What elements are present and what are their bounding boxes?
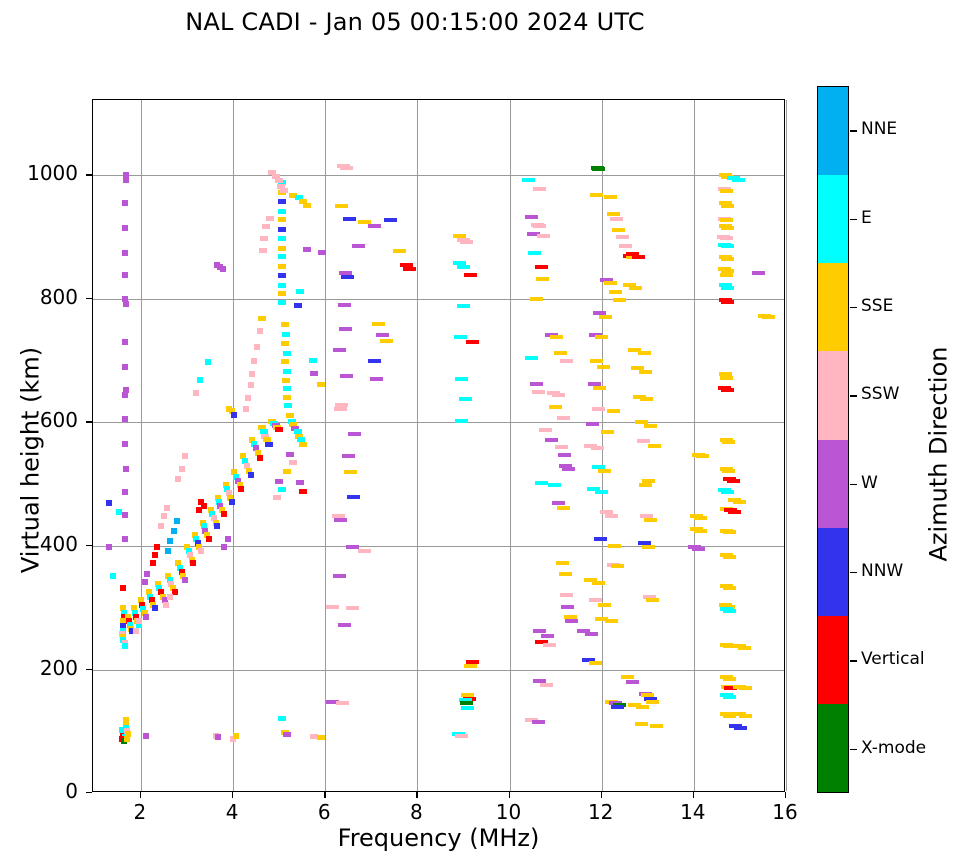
echo-mark	[692, 547, 705, 551]
echo-mark	[561, 605, 574, 609]
echo-mark	[455, 734, 468, 738]
echo-mark	[739, 686, 752, 690]
echo-mark	[122, 339, 128, 345]
echo-mark	[696, 454, 709, 458]
echo-mark	[562, 467, 575, 471]
echo-mark	[560, 359, 573, 363]
colorbar-title: Azimuth Direction	[925, 101, 953, 808]
echo-mark	[739, 714, 752, 718]
echo-mark	[303, 247, 311, 252]
echo-mark	[172, 589, 178, 595]
echo-mark	[158, 523, 164, 529]
echo-mark	[342, 454, 355, 458]
x-tick	[601, 792, 602, 798]
echo-mark	[466, 340, 479, 344]
echo-mark	[368, 224, 381, 228]
echo-mark	[720, 236, 733, 240]
echo-mark	[619, 244, 632, 248]
echo-mark	[455, 377, 468, 381]
echo-mark	[557, 416, 570, 420]
echo-mark	[610, 217, 623, 221]
echo-mark	[752, 271, 765, 275]
echo-mark	[722, 440, 735, 444]
echo-mark	[214, 523, 220, 529]
echo-mark	[598, 603, 611, 607]
echo-mark	[646, 598, 659, 602]
y-tick	[86, 421, 92, 422]
echo-mark	[384, 218, 397, 222]
echo-mark	[457, 265, 470, 269]
echo-mark	[632, 255, 645, 259]
echo-mark	[616, 235, 629, 239]
echo-mark	[368, 359, 381, 363]
x-tick-label: 12	[571, 800, 631, 824]
echo-mark	[281, 322, 289, 327]
echo-mark	[556, 561, 569, 565]
echo-mark	[522, 178, 535, 182]
echo-mark	[609, 290, 622, 294]
colorbar-segment-e	[818, 175, 848, 263]
echo-mark	[163, 602, 169, 608]
echo-mark	[535, 265, 548, 269]
echo-mark	[197, 377, 203, 383]
echo-mark	[120, 585, 126, 591]
echo-mark	[174, 518, 180, 524]
x-tick-label: 14	[663, 800, 723, 824]
echo-mark	[193, 390, 199, 396]
echo-mark	[537, 234, 550, 238]
echo-mark	[243, 406, 249, 412]
echo-mark	[221, 544, 227, 550]
y-tick	[86, 792, 92, 793]
echo-mark	[525, 215, 538, 219]
colorbar-label-sse: SSE	[861, 296, 893, 316]
echo-mark	[549, 405, 562, 409]
echo-mark	[532, 390, 545, 394]
echo-mark	[530, 297, 543, 301]
echo-mark	[229, 499, 235, 505]
echo-mark	[721, 300, 734, 304]
echo-mark	[338, 623, 351, 627]
colorbar-segment-sse	[818, 263, 848, 351]
echo-mark	[143, 614, 149, 620]
echo-mark	[607, 212, 620, 216]
colorbar-tick	[850, 660, 857, 661]
echo-mark	[629, 286, 642, 290]
echo-mark	[282, 378, 290, 383]
echo-mark	[265, 442, 273, 447]
y-axis-title: Virtual height (km)	[17, 114, 45, 807]
echo-mark	[593, 311, 606, 315]
echo-mark	[278, 254, 286, 259]
echo-mark	[278, 273, 286, 278]
echo-mark	[278, 264, 286, 269]
colorbar-label-w: W	[861, 473, 878, 493]
echo-mark	[543, 643, 556, 647]
echo-mark	[694, 516, 707, 520]
echo-mark	[694, 529, 707, 533]
y-tick	[86, 174, 92, 175]
echo-mark	[339, 271, 352, 275]
colorbar-label-ssw: SSW	[861, 384, 899, 404]
echo-mark	[637, 439, 650, 443]
echo-mark	[727, 479, 740, 483]
echo-mark	[334, 518, 347, 522]
echo-mark	[334, 407, 347, 411]
echo-mark	[262, 224, 270, 229]
echo-mark	[532, 720, 545, 724]
echo-mark	[278, 199, 286, 204]
echo-mark	[317, 382, 325, 387]
echo-mark	[613, 298, 626, 302]
echo-mark	[590, 193, 603, 197]
echo-mark	[554, 351, 567, 355]
echo-mark	[525, 356, 538, 360]
colorbar-segment-x-mode	[818, 704, 848, 792]
echo-mark	[464, 664, 477, 668]
echo-mark	[152, 552, 158, 558]
echo-mark	[644, 424, 657, 428]
echo-mark	[380, 339, 393, 343]
echo-mark	[557, 506, 570, 510]
echo-mark	[249, 371, 255, 377]
echo-mark	[165, 548, 171, 554]
echo-mark	[231, 412, 237, 418]
echo-mark	[283, 369, 291, 374]
echo-mark	[144, 571, 150, 577]
echo-mark	[592, 407, 605, 411]
echo-mark	[611, 564, 624, 568]
echo-mark	[123, 177, 129, 183]
y-tick	[86, 545, 92, 546]
echo-mark	[309, 358, 317, 363]
echo-mark	[540, 683, 553, 687]
echo-mark	[639, 483, 652, 487]
echo-mark	[621, 675, 634, 679]
echo-mark	[296, 480, 304, 485]
echo-mark	[720, 273, 733, 277]
echo-mark	[721, 257, 734, 261]
echo-mark	[260, 236, 268, 241]
echo-mark	[248, 472, 254, 478]
echo-mark	[347, 495, 360, 499]
echo-mark	[372, 322, 385, 326]
echo-mark	[585, 632, 598, 636]
colorbar	[817, 86, 849, 793]
echo-mark	[592, 581, 605, 585]
echo-mark	[648, 444, 661, 448]
echo-mark	[594, 537, 607, 541]
echo-mark	[611, 705, 624, 709]
x-tick	[140, 792, 141, 798]
echo-mark	[278, 487, 286, 492]
echo-mark	[122, 392, 128, 398]
page-title: NAL CADI - Jan 05 00:15:00 2024 UTC	[0, 8, 830, 36]
colorbar-label-nne: NNE	[861, 119, 897, 139]
echo-mark	[721, 388, 734, 392]
echo-mark	[723, 530, 736, 534]
echo-mark	[720, 189, 733, 193]
echo-mark	[283, 732, 291, 737]
echo-mark	[590, 359, 603, 363]
echo-mark	[122, 225, 128, 231]
x-tick	[416, 792, 417, 798]
echo-mark	[164, 505, 170, 511]
echo-mark	[122, 536, 128, 542]
colorbar-tick	[850, 749, 857, 750]
echo-mark	[733, 500, 746, 504]
echo-mark	[626, 680, 639, 684]
echo-mark	[457, 304, 470, 308]
x-tick	[785, 792, 786, 798]
echo-mark	[464, 273, 477, 277]
echo-mark	[605, 514, 618, 518]
x-tick-label: 8	[386, 800, 446, 824]
echo-mark	[190, 560, 196, 566]
echo-mark	[640, 397, 653, 401]
echo-mark	[283, 469, 291, 474]
echo-mark	[123, 301, 129, 307]
echo-mark	[722, 469, 735, 473]
colorbar-label-e: E	[861, 208, 872, 228]
echo-mark	[601, 430, 614, 434]
colorbar-segment-ssw	[818, 351, 848, 439]
echo-mark	[245, 395, 251, 401]
echo-mark	[179, 466, 185, 472]
echo-mark	[528, 251, 541, 255]
x-tick-label: 16	[755, 800, 815, 824]
echo-mark	[278, 291, 286, 296]
echo-mark	[122, 200, 128, 206]
echo-mark	[205, 359, 211, 365]
echo-mark	[336, 701, 349, 705]
echo-mark	[296, 289, 304, 294]
echo-mark	[536, 277, 549, 281]
echo-mark	[721, 244, 734, 248]
echo-mark	[275, 178, 283, 183]
echo-mark	[597, 365, 610, 369]
echo-mark	[248, 382, 254, 388]
echo-mark	[142, 579, 148, 585]
colorbar-segment-nnw	[818, 528, 848, 616]
x-axis-title: Frequency (MHz)	[92, 824, 785, 852]
echo-mark	[604, 195, 617, 199]
echo-mark	[591, 446, 604, 450]
echo-mark	[333, 348, 346, 352]
echo-mark	[225, 536, 231, 542]
echo-mark	[289, 460, 297, 465]
echo-mark	[605, 619, 618, 623]
echo-mark	[595, 490, 608, 494]
x-tick	[509, 792, 510, 798]
echo-mark	[732, 178, 745, 182]
y-tick	[86, 298, 92, 299]
echo-mark	[612, 228, 625, 232]
echo-mark	[586, 422, 599, 426]
x-tick-label: 2	[110, 800, 170, 824]
echo-mark	[589, 661, 602, 665]
colorbar-segment-nne	[818, 87, 848, 175]
echo-mark	[221, 511, 227, 517]
echo-mark	[133, 628, 139, 634]
y-tick	[86, 669, 92, 670]
echo-mark	[273, 495, 281, 500]
echo-mark	[257, 328, 263, 334]
echo-mark	[333, 574, 346, 578]
echo-mark	[318, 250, 326, 255]
echo-mark	[175, 476, 181, 482]
echo-mark	[123, 466, 129, 472]
colorbar-tick	[850, 219, 857, 220]
echo-mark	[721, 490, 734, 494]
echo-mark	[642, 545, 655, 549]
echo-mark	[299, 489, 307, 494]
echo-mark	[734, 726, 747, 730]
echo-mark	[533, 187, 546, 191]
echo-mark	[376, 333, 389, 337]
colorbar-segment-vertical	[818, 616, 848, 704]
x-tick-label: 10	[479, 800, 539, 824]
x-tick-label: 6	[294, 800, 354, 824]
echo-mark	[281, 359, 289, 364]
echo-mark	[723, 586, 736, 590]
echo-mark	[286, 452, 294, 457]
echo-mark	[152, 605, 158, 611]
echo-mark	[646, 700, 659, 704]
echo-mark	[595, 335, 608, 339]
echo-mark	[220, 266, 226, 272]
echo-mark	[278, 283, 286, 288]
echo-mark	[552, 393, 565, 397]
echo-mark	[122, 416, 128, 422]
x-tick	[693, 792, 694, 798]
echo-mark	[122, 643, 128, 649]
echo-mark	[124, 736, 130, 742]
echo-mark	[639, 370, 652, 374]
echo-mark	[592, 167, 605, 171]
echo-mark	[278, 236, 286, 241]
echo-mark	[278, 300, 286, 305]
echo-mark	[560, 593, 573, 597]
echo-mark	[275, 479, 283, 484]
echo-mark	[723, 555, 736, 559]
echo-mark	[284, 403, 292, 408]
echo-mark	[635, 722, 648, 726]
echo-mark	[723, 677, 736, 681]
echo-mark	[608, 544, 621, 548]
echo-mark	[638, 351, 651, 355]
echo-mark	[545, 438, 558, 442]
echo-mark	[539, 428, 552, 432]
echo-mark	[122, 272, 128, 278]
echo-mark	[143, 733, 149, 739]
colorbar-segment-w	[818, 440, 848, 528]
colorbar-tick	[850, 484, 857, 485]
echo-mark	[358, 549, 371, 553]
colorbar-tick	[850, 395, 857, 396]
echo-mark	[258, 316, 266, 321]
echo-mark	[455, 419, 468, 423]
echo-mark	[720, 218, 733, 222]
ionogram-figure: NAL CADI - Jan 05 00:15:00 2024 UTC 2468…	[0, 0, 958, 857]
echo-mark	[738, 646, 751, 650]
echo-mark	[558, 453, 571, 457]
echo-mark	[154, 544, 160, 550]
echo-mark	[299, 442, 307, 447]
echo-mark	[335, 204, 348, 208]
echo-mark	[278, 227, 286, 232]
gridline-x	[786, 100, 787, 791]
echo-mark	[198, 548, 204, 554]
colorbar-tick	[850, 307, 857, 308]
echo-mark	[340, 374, 353, 378]
echo-mark	[122, 441, 128, 447]
echo-mark	[278, 209, 286, 214]
echo-mark	[650, 724, 663, 728]
echo-mark	[171, 528, 177, 534]
echo-mark	[338, 303, 351, 307]
echo-mark	[552, 501, 565, 505]
echo-mark	[721, 286, 734, 290]
echo-mark	[167, 594, 173, 600]
echo-mark	[275, 427, 283, 432]
echo-mark	[454, 335, 467, 339]
echo-mark	[161, 513, 167, 519]
colorbar-label-nnw: NNW	[861, 561, 903, 581]
echo-mark	[348, 432, 361, 436]
echo-mark	[461, 706, 474, 710]
echo-mark	[259, 248, 267, 253]
echo-mark	[233, 733, 239, 739]
echo-mark	[278, 716, 286, 721]
echo-mark	[110, 573, 116, 579]
echo-mark	[106, 544, 112, 550]
echo-mark	[344, 470, 357, 474]
echo-mark	[644, 518, 657, 522]
echo-mark	[167, 538, 173, 544]
echo-mark	[150, 560, 156, 566]
echo-mark	[266, 216, 274, 221]
x-tick	[324, 792, 325, 798]
colorbar-label-x-mode: X-mode	[861, 738, 926, 758]
echo-mark	[533, 224, 546, 228]
echo-mark	[723, 695, 736, 699]
colorbar-label-vertical: Vertical	[861, 649, 925, 669]
echo-mark	[122, 364, 128, 370]
echo-mark	[196, 507, 202, 513]
echo-mark	[346, 606, 359, 610]
echo-mark	[303, 203, 311, 208]
data-marks-layer	[93, 100, 784, 791]
echo-mark	[720, 376, 733, 380]
echo-mark	[116, 509, 122, 515]
echo-mark	[599, 315, 612, 319]
echo-mark	[282, 332, 290, 337]
echo-mark	[206, 536, 212, 542]
echo-mark	[340, 166, 353, 170]
x-tick-label: 4	[202, 800, 262, 824]
echo-mark	[604, 281, 617, 285]
echo-mark	[459, 397, 472, 401]
x-tick	[232, 792, 233, 798]
echo-mark	[106, 500, 112, 506]
echo-mark	[559, 572, 572, 576]
echo-mark	[294, 303, 302, 308]
echo-mark	[122, 250, 128, 256]
colorbar-tick	[850, 130, 857, 131]
echo-mark	[238, 486, 244, 492]
echo-mark	[283, 386, 291, 391]
